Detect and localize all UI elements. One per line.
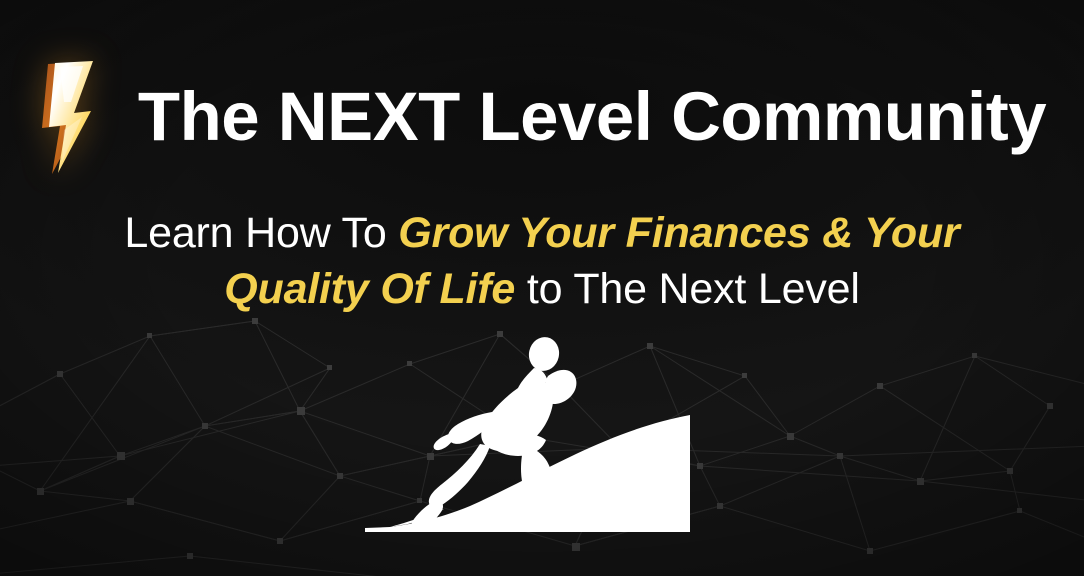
runner-on-ramp-illustration	[352, 336, 712, 546]
subtitle-accent-2: Quality Of Life	[224, 265, 515, 313]
subtitle-plain-prefix: Learn How To	[124, 209, 398, 257]
hero-banner: The NEXT Level Community Learn How To Gr…	[0, 0, 1084, 576]
subtitle: Learn How To Grow Your Finances & Your Q…	[0, 205, 1084, 317]
subtitle-plain-suffix: to The Next Level	[515, 265, 860, 313]
subtitle-accent-1: Grow Your Finances & Your	[398, 209, 959, 257]
subtitle-line-1: Learn How To Grow Your Finances & Your	[0, 205, 1084, 261]
header-row: The NEXT Level Community	[0, 56, 1084, 176]
subtitle-line-2: Quality Of Life to The Next Level	[0, 261, 1084, 317]
lightning-bolt-icon	[38, 56, 112, 178]
page-title: The NEXT Level Community	[138, 82, 1046, 151]
